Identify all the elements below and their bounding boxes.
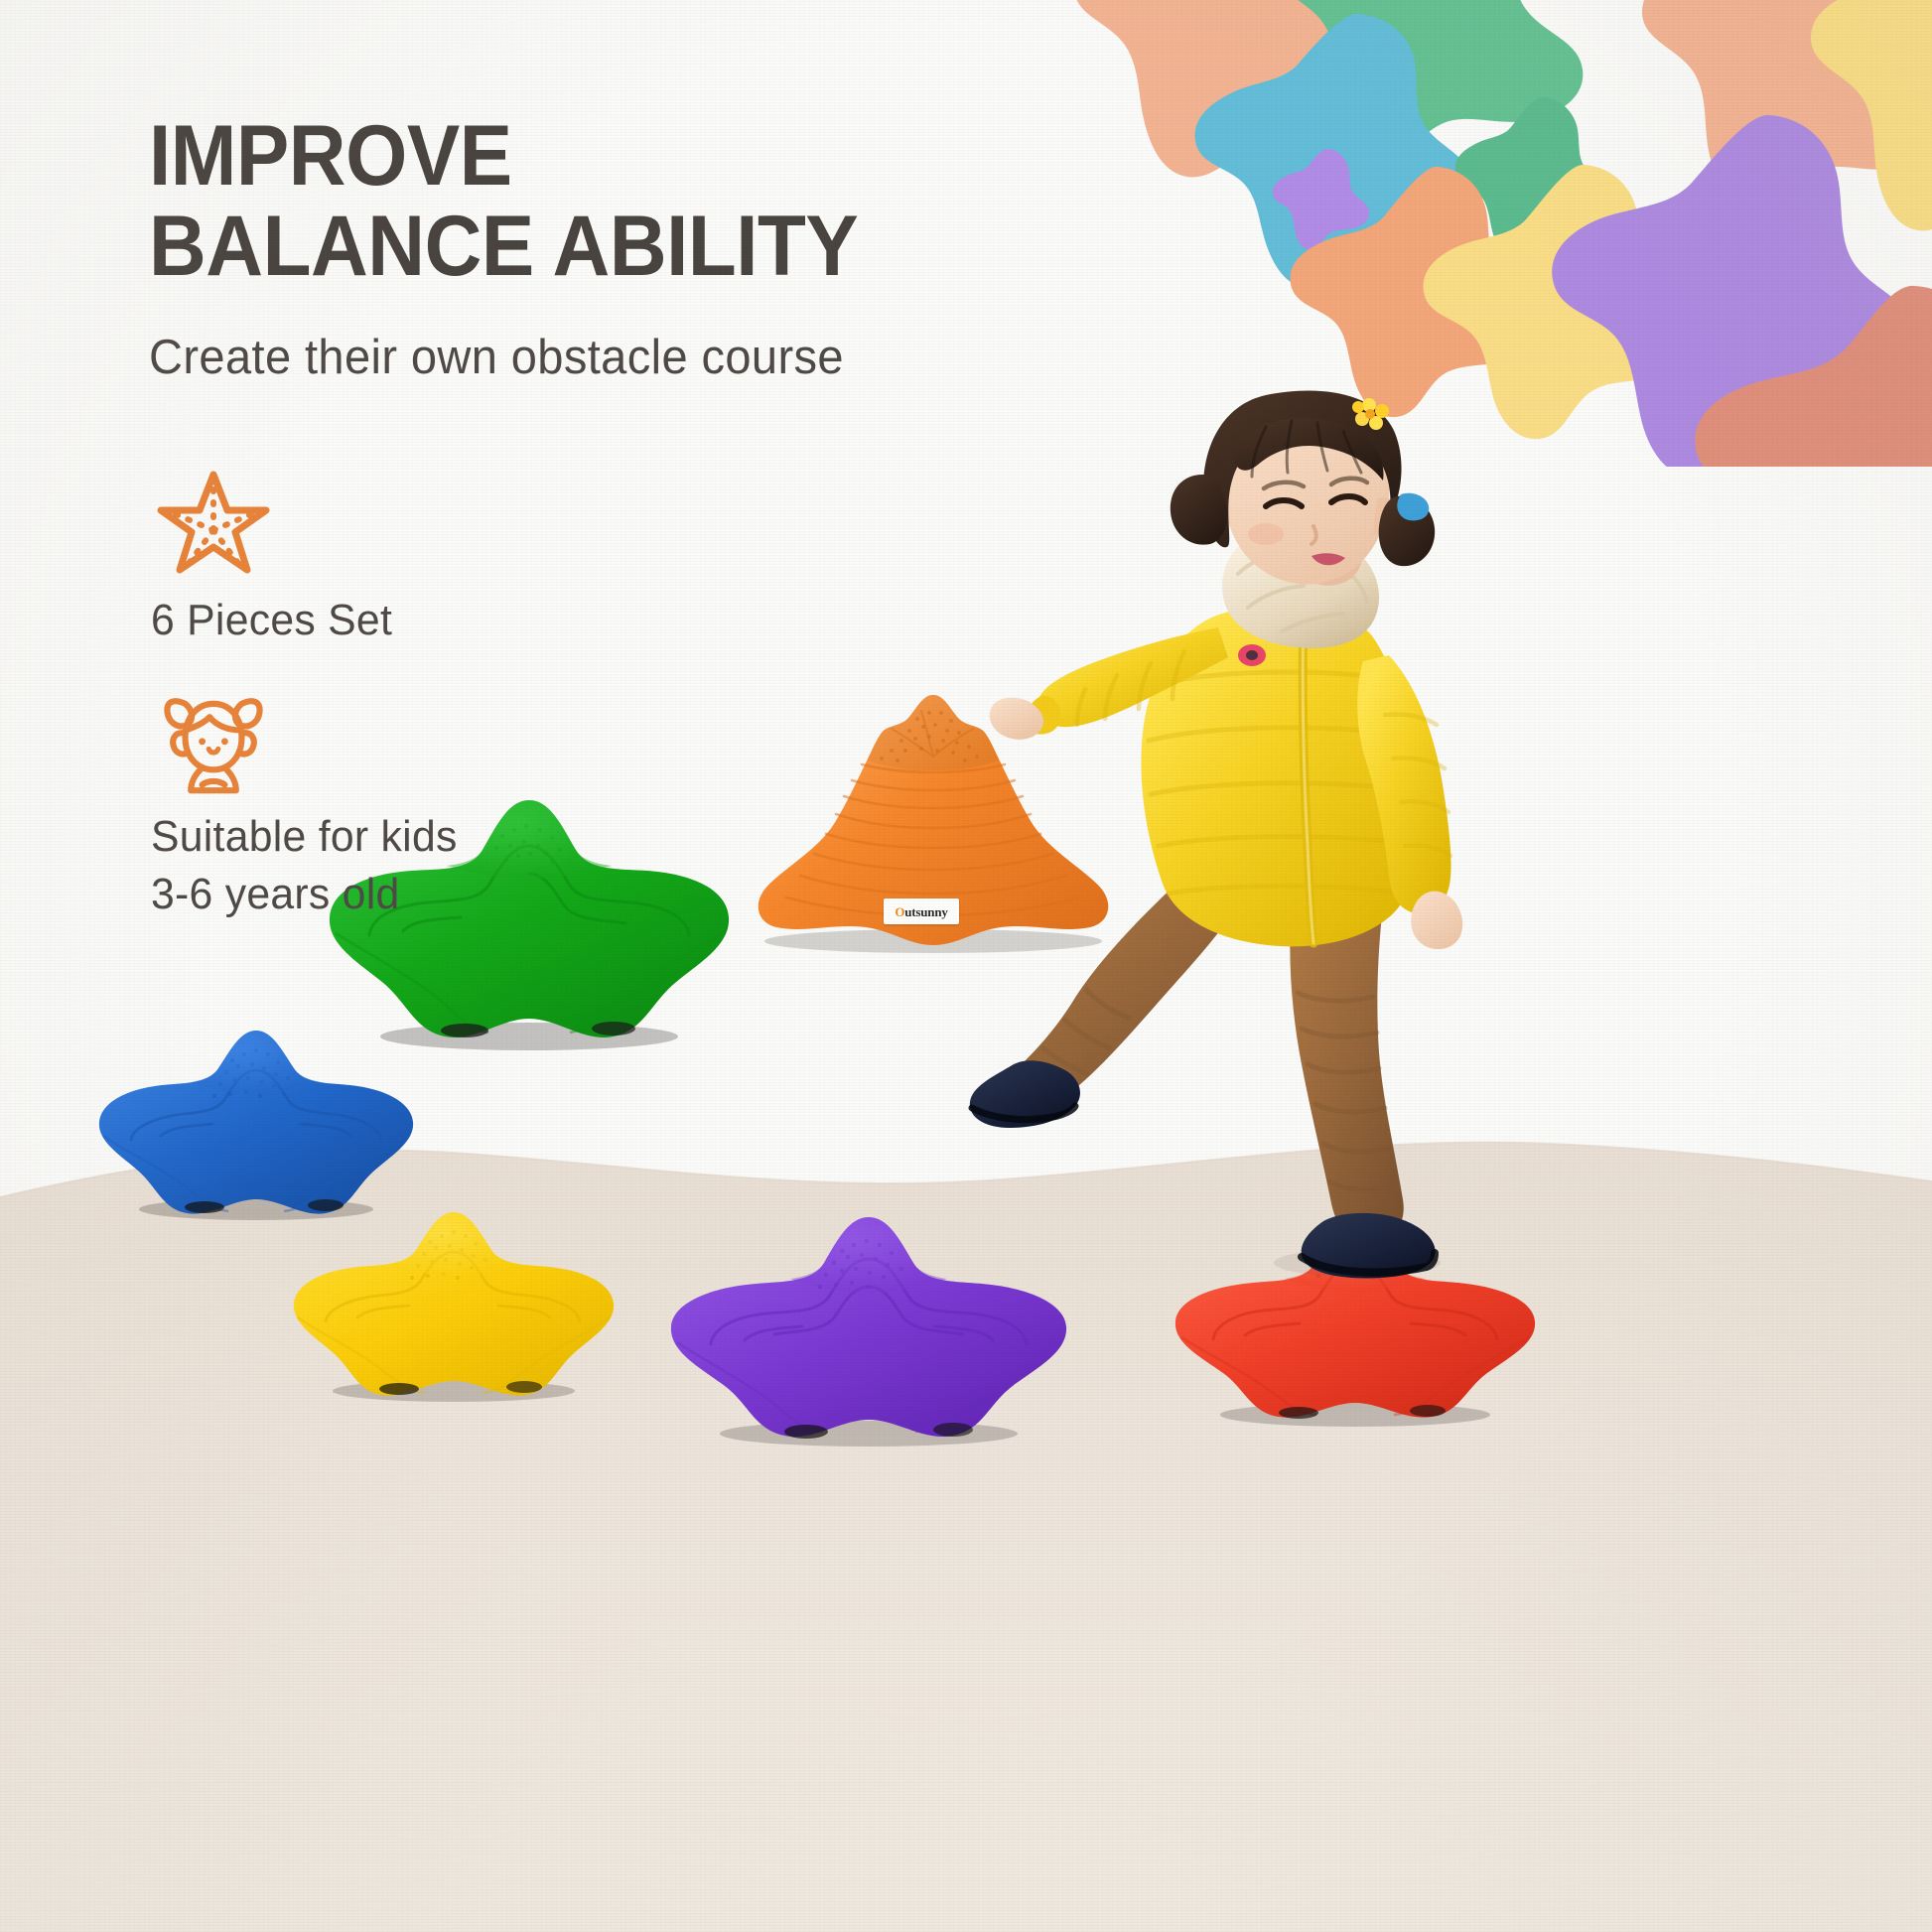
feature-list: 6 Pieces Set [151,467,846,957]
headline-block: IMPROVE BALANCE ABILITY Create their own… [149,111,1142,385]
product-poster: IMPROVE BALANCE ABILITY Create their own… [0,0,1932,1932]
page-subtitle: Create their own obstacle course [149,330,1102,385]
feature-label-pieces: 6 Pieces Set [151,592,825,649]
girl-face-icon [151,683,276,794]
starfish-icon [151,467,276,578]
feature-item-age: Suitable for kids 3-6 years old [151,683,846,923]
brand-initial: O [895,904,904,919]
stepping-stone-blue [87,1025,425,1223]
brand-logo-tag: Outsunny [884,898,959,924]
child-model-photo [968,357,1603,1301]
feature-label-age: Suitable for kids 3-6 years old [151,808,825,923]
brand-rest: utsunny [904,904,947,919]
brand-name: Outsunny [895,905,947,918]
page-title: IMPROVE BALANCE ABILITY [149,111,1072,292]
stepping-stone-yellow [280,1206,627,1405]
feature-item-pieces: 6 Pieces Set [151,467,846,649]
